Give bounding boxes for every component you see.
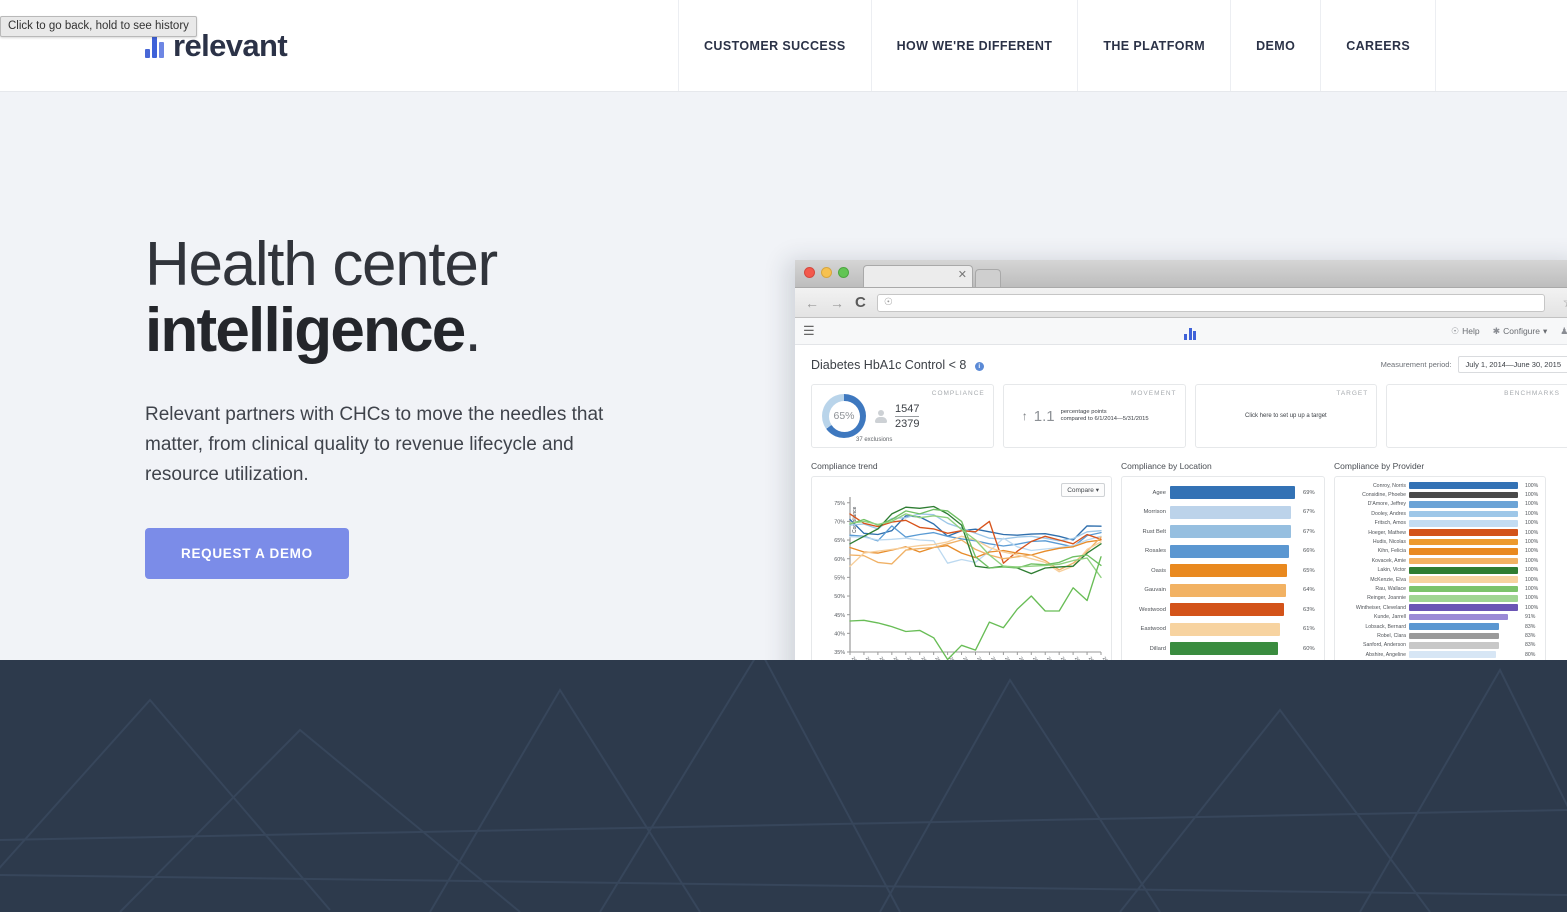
arrow-left-icon[interactable]: ← [805, 295, 819, 311]
nav-item-demo[interactable]: DEMO [1230, 0, 1320, 91]
bar-value-label: 100% [1522, 530, 1541, 536]
compliance-fraction: 1547 2379 [895, 403, 919, 430]
compare-dropdown-button[interactable]: Compare ▾ [1061, 483, 1105, 497]
panel-title: Compliance trend [811, 461, 1112, 471]
bar-row[interactable]: D'Amore, Jeffrey100% [1339, 500, 1541, 509]
hero-subtitle: Relevant partners with CHCs to move the … [145, 400, 625, 490]
bar-row[interactable]: Robel, Clara83% [1339, 631, 1541, 640]
bar[interactable] [1170, 525, 1291, 538]
bar[interactable] [1409, 642, 1499, 649]
bar-value-label: 100% [1522, 520, 1541, 526]
bar-value-label: 100% [1522, 605, 1541, 611]
bar-value-label: 65% [1300, 568, 1320, 574]
bar[interactable] [1409, 529, 1518, 536]
bar-value-label: 83% [1522, 624, 1541, 630]
bar-track [1409, 492, 1522, 499]
close-icon[interactable]: ✕ [958, 268, 967, 281]
bar-value-label: 61% [1300, 626, 1320, 632]
movement-value: 1.1 [1034, 408, 1055, 425]
bar[interactable] [1409, 511, 1518, 518]
panel-compliance-trend: Compliance trend Compare ▾ 35%40%45%50%5… [811, 461, 1112, 660]
bar-label: Kunde, Jarrell [1339, 614, 1409, 620]
bar[interactable] [1170, 603, 1284, 616]
bar-chart-logo-icon [145, 34, 164, 58]
provider-bar-chart: Conroy, Norris100%Considine, Phoebe100%D… [1334, 476, 1546, 660]
bar-row[interactable]: Conroy, Norris100% [1339, 481, 1541, 490]
hero-heading-period: . [465, 296, 481, 365]
bar-value-label: 100% [1522, 548, 1541, 554]
page-title: Health center intelligence. [145, 232, 705, 364]
bar-value-label: 67% [1300, 509, 1320, 515]
bar-track [1170, 486, 1300, 499]
bar[interactable] [1409, 576, 1518, 583]
star-icon[interactable]: ☆ [1562, 294, 1567, 311]
bar-value-label: 100% [1522, 511, 1541, 517]
minimize-button[interactable] [821, 267, 832, 278]
location-bar-chart: Agee69%Morrison67%Rust Belt67%Rosales66%… [1121, 476, 1325, 660]
bar-track [1170, 584, 1300, 597]
bar[interactable] [1409, 501, 1518, 508]
bar-track [1409, 482, 1522, 489]
bar-row[interactable]: Rau, Wallace100% [1339, 584, 1541, 593]
bar-label: Robel, Clara [1339, 633, 1409, 639]
panel-compliance-by-location: Compliance by Location Agee69%Morrison67… [1121, 461, 1325, 660]
bar[interactable] [1170, 584, 1286, 597]
kpi-label: COMPLIANCE [932, 390, 985, 397]
kpi-card-compliance[interactable]: COMPLIANCE 65% 1547 2379 [811, 384, 994, 448]
bar-track [1409, 651, 1522, 658]
bar-track [1409, 567, 1522, 574]
bar-label: Hudis, Nicolas [1339, 539, 1409, 545]
bar-label: Lobsack, Bernard [1339, 624, 1409, 630]
svg-text:Compliance: Compliance [852, 506, 858, 533]
bar-row[interactable]: Morrison67% [1126, 503, 1320, 523]
bar[interactable] [1409, 492, 1518, 499]
bar-value-label: 91% [1522, 614, 1541, 620]
bar-label: Agee [1126, 490, 1170, 496]
nav-item-customer-success[interactable]: CUSTOMER SUCCESS [678, 0, 871, 91]
panel-compliance-by-provider: Compliance by Provider Conroy, Norris100… [1334, 461, 1546, 660]
bar-value-label: 100% [1522, 483, 1541, 489]
bar-track [1409, 520, 1522, 527]
panel-title: Compliance by Provider [1334, 461, 1546, 471]
measurement-period-label: Measurement period: [1381, 360, 1452, 369]
bar-value-label: 100% [1522, 577, 1541, 583]
bar-row[interactable]: Kovacek, Amie100% [1339, 556, 1541, 565]
bar[interactable] [1170, 506, 1291, 519]
product-screenshot-browser-mock: ✕ ← → C ☉ ☆ ☰ ☉ Help ✱ [795, 260, 1567, 660]
bar-row[interactable]: Reinger, Joannie100% [1339, 594, 1541, 603]
svg-text:50%: 50% [834, 594, 845, 600]
bar[interactable] [1170, 564, 1287, 577]
bar-label: McKenzie, Elva [1339, 577, 1409, 583]
compare-label: Compare [1067, 487, 1094, 494]
bar-label: Lakin, Victor [1339, 567, 1409, 573]
bar-label: Hoeger, Mathew [1339, 530, 1409, 536]
bar-row[interactable]: Gauvain64% [1126, 581, 1320, 601]
bar-value-label: 67% [1300, 529, 1320, 535]
bar-track [1409, 501, 1522, 508]
bar-label: Sanford, Anderson [1339, 642, 1409, 648]
user-icon: ♟ [1560, 326, 1567, 337]
panel-title: Compliance by Location [1121, 461, 1325, 471]
bar-label: Rau, Wallace [1339, 586, 1409, 592]
account-menu-item[interactable]: ♟ A [1560, 326, 1567, 337]
bar[interactable] [1409, 651, 1496, 658]
bar-row[interactable]: Eastwood61% [1126, 620, 1320, 640]
bar-label: Oasis [1126, 568, 1170, 574]
bar-track [1170, 623, 1300, 636]
reload-icon[interactable]: C [855, 294, 866, 311]
bar-track [1409, 595, 1522, 602]
svg-text:60%: 60% [834, 557, 845, 563]
chevron-down-icon: ▾ [1543, 326, 1547, 337]
chevron-down-icon: ▾ [1096, 487, 1099, 494]
bar-track [1409, 623, 1522, 630]
bar-track [1170, 525, 1300, 538]
bar[interactable] [1409, 520, 1518, 527]
bar-row[interactable]: Lakin, Victor100% [1339, 566, 1541, 575]
bar-row[interactable]: Dillard60% [1126, 639, 1320, 659]
movement-caption: percentage points compared to 6/1/2014—5… [1061, 409, 1149, 424]
bar[interactable] [1170, 486, 1295, 499]
kpi-label: MOVEMENT [1131, 390, 1177, 397]
bar-row[interactable]: Hudis, Nicolas100% [1339, 537, 1541, 546]
kpi-card-movement[interactable]: MOVEMENT ↑ 1.1 percentage points compare… [1003, 384, 1186, 448]
svg-text:75%: 75% [834, 501, 845, 507]
hero-heading-line-2: intelligence [145, 296, 465, 365]
bar-track [1170, 545, 1300, 558]
bar-row[interactable]: Wintheiser, Cleveland100% [1339, 603, 1541, 612]
numerator: 1547 [895, 403, 919, 415]
bar-value-label: 100% [1522, 567, 1541, 573]
bar-track [1170, 642, 1300, 655]
bar[interactable] [1409, 586, 1518, 593]
bar[interactable] [1409, 604, 1518, 611]
bar-row[interactable]: Lobsack, Bernard83% [1339, 622, 1541, 631]
configure-label: Configure [1503, 326, 1540, 336]
background-pattern [0, 660, 1567, 912]
bar-label: Morrison [1126, 509, 1170, 515]
bar-track [1170, 603, 1300, 616]
bar-label: Westwood [1126, 607, 1170, 613]
bar-track [1409, 642, 1522, 649]
bar-value-label: 80% [1522, 652, 1541, 658]
bar-value-label: 83% [1522, 642, 1541, 648]
bar-track [1409, 633, 1522, 640]
svg-text:40%: 40% [834, 632, 845, 638]
globe-icon: ☉ [1451, 326, 1459, 337]
bar-track [1409, 576, 1522, 583]
bar-value-label: 100% [1522, 558, 1541, 564]
bar-value-label: 100% [1522, 539, 1541, 545]
hero-section: Health center intelligence. Relevant par… [0, 92, 1567, 660]
bar-row[interactable]: Dooley, Andres100% [1339, 509, 1541, 518]
bar-label: D'Amore, Jeffrey [1339, 501, 1409, 507]
configure-menu-item[interactable]: ✱ Configure ▾ [1493, 326, 1548, 337]
bar[interactable] [1409, 539, 1518, 546]
bar-value-label: 100% [1522, 492, 1541, 498]
bar-row[interactable]: McKenzie, Elva100% [1339, 575, 1541, 584]
bar-track [1409, 614, 1522, 621]
browser-toolbar: ← → C ☉ ☆ [795, 288, 1567, 318]
nav-item-careers[interactable]: CAREERS [1320, 0, 1435, 91]
svg-text:65%: 65% [834, 538, 845, 544]
kpi-label: TARGET [1336, 390, 1368, 397]
bar-value-label: 83% [1522, 633, 1541, 639]
close-button[interactable] [804, 267, 815, 278]
bar[interactable] [1409, 558, 1518, 565]
zoom-button[interactable] [838, 267, 849, 278]
hero-heading-line-1: Health center [145, 230, 497, 299]
bar-chart-logo-icon [1181, 322, 1199, 340]
exclusions-text: 37 exclusions [856, 437, 892, 443]
bar-value-label: 60% [1300, 646, 1320, 652]
bar-value-label: 100% [1522, 501, 1541, 507]
bar-row[interactable]: Rust Belt67% [1126, 522, 1320, 542]
bar-track [1409, 604, 1522, 611]
nav-spacer [1435, 0, 1567, 91]
app-bar-actions: ☉ Help ✱ Configure ▾ ♟ A [1451, 326, 1567, 337]
person-icon [874, 410, 887, 423]
movement-unit: percentage points [1061, 409, 1107, 415]
arrow-right-icon[interactable]: → [830, 295, 844, 311]
dashboard: Diabetes HbA1c Control < 8 i Measurement… [795, 345, 1567, 660]
bar-value-label: 64% [1300, 587, 1320, 593]
bar-label: Rosales [1126, 548, 1170, 554]
window-controls[interactable] [804, 267, 849, 278]
new-tab-button[interactable] [975, 269, 1001, 287]
movement-comparison: compared to 6/1/2014—5/31/2015 [1061, 416, 1149, 422]
bar-row[interactable]: Kihn, Felicia100% [1339, 547, 1541, 556]
bar[interactable] [1409, 595, 1518, 602]
bar[interactable] [1170, 623, 1280, 636]
arrow-up-icon: ↑ [1022, 409, 1028, 423]
nav-item-how-were-different[interactable]: HOW WE'RE DIFFERENT [871, 0, 1078, 91]
bar-row[interactable]: Kunde, Jarrell91% [1339, 612, 1541, 621]
kpi-card-target[interactable]: TARGET Click here to set up up a target [1195, 384, 1378, 448]
dashboard-title-wrap: Diabetes HbA1c Control < 8 i [811, 358, 984, 372]
bar-row[interactable]: Considine, Phoebe100% [1339, 490, 1541, 499]
hero-copy: Health center intelligence. Relevant par… [145, 232, 705, 579]
bar-value-label: 69% [1300, 490, 1320, 496]
bar-value-label: 63% [1300, 607, 1320, 613]
compliance-trend-line-chart: 35%40%45%50%55%60%65%70%75%Compliance201… [812, 477, 1111, 660]
bar-row[interactable]: Oasis65% [1126, 561, 1320, 581]
bar-label: Conroy, Norris [1339, 483, 1409, 489]
target-setup-link[interactable]: Click here to set up up a target [1196, 413, 1377, 419]
bar[interactable] [1170, 545, 1289, 558]
bar[interactable] [1409, 482, 1518, 489]
bar[interactable] [1409, 548, 1518, 555]
browser-back-tooltip: Click to go back, hold to see history [0, 16, 197, 37]
browser-tab[interactable]: ✕ [863, 265, 973, 287]
nav-item-the-platform[interactable]: THE PLATFORM [1077, 0, 1230, 91]
browser-tab-strip: ✕ [795, 260, 1567, 288]
bar-value-label: 66% [1300, 548, 1320, 554]
bar-row[interactable]: Abshire, Angeline80% [1339, 650, 1541, 659]
bar-label: Considine, Phoebe [1339, 492, 1409, 498]
bar-label: Kihn, Felicia [1339, 548, 1409, 554]
svg-text:35%: 35% [834, 650, 845, 656]
bar-track [1409, 529, 1522, 536]
svg-text:55%: 55% [834, 576, 845, 582]
bar-row[interactable]: Sanford, Anderson83% [1339, 641, 1541, 650]
bar-value-label: 100% [1522, 586, 1541, 592]
bar-row[interactable]: Hoeger, Mathew100% [1339, 528, 1541, 537]
bar[interactable] [1170, 642, 1278, 655]
measurement-period-value[interactable]: July 1, 2014—June 30, 2015 [1458, 356, 1567, 373]
bar-label: Rust Belt [1126, 529, 1170, 535]
info-icon[interactable]: i [975, 362, 984, 371]
testimonials-section: What Our Customers Are Saying [0, 660, 1567, 912]
trend-chart-box: Compare ▾ 35%40%45%50%55%60%65%70%75%Com… [811, 476, 1112, 660]
bar[interactable] [1409, 614, 1508, 621]
bar-row[interactable]: Agee69% [1126, 483, 1320, 503]
kpi-card-row: COMPLIANCE 65% 1547 2379 [811, 384, 1567, 448]
kpi-label: BENCHMARKS [1504, 390, 1560, 397]
app-top-bar: ☰ ☉ Help ✱ Configure ▾ ♟ A [795, 318, 1567, 345]
main-nav: CUSTOMER SUCCESS HOW WE'RE DIFFERENT THE… [678, 0, 1567, 91]
globe-icon: ☉ [884, 297, 893, 308]
bar[interactable] [1409, 633, 1499, 640]
bar-track [1170, 506, 1300, 519]
help-label: Help [1462, 326, 1479, 336]
bar-track [1409, 539, 1522, 546]
request-a-demo-button[interactable]: REQUEST A DEMO [145, 528, 349, 579]
bar-track [1409, 586, 1522, 593]
bar-label: Kovacek, Amie [1339, 558, 1409, 564]
bar-track [1409, 548, 1522, 555]
hamburger-icon[interactable]: ☰ [803, 323, 815, 339]
address-bar[interactable]: ☉ [877, 294, 1546, 312]
bar-label: Fritsch, Amos [1339, 520, 1409, 526]
bar-track [1170, 564, 1300, 577]
bar-row[interactable]: Westwood63% [1126, 600, 1320, 620]
bar-value-label: 100% [1522, 595, 1541, 601]
bar-label: Reinger, Joannie [1339, 595, 1409, 601]
bar[interactable] [1409, 567, 1518, 574]
measurement-period: Measurement period: July 1, 2014—June 30… [1381, 356, 1567, 373]
bar-label: Gauvain [1126, 587, 1170, 593]
bar-row[interactable]: Fritsch, Amos100% [1339, 519, 1541, 528]
bar-label: Eastwood [1126, 626, 1170, 632]
brand-logo-link[interactable]: relevant [0, 0, 678, 91]
wrench-icon: ✱ [1493, 326, 1501, 337]
bar-row[interactable]: Rosales66% [1126, 542, 1320, 562]
site-header: relevant CUSTOMER SUCCESS HOW WE'RE DIFF… [0, 0, 1567, 92]
bar-label: Wintheiser, Cleveland [1339, 605, 1409, 611]
denominator: 2379 [895, 418, 919, 430]
bar-label: Dooley, Andres [1339, 511, 1409, 517]
help-menu-item[interactable]: ☉ Help [1451, 326, 1480, 337]
dashboard-panels: Compliance trend Compare ▾ 35%40%45%50%5… [811, 461, 1567, 660]
bar-label: Abshire, Angeline [1339, 652, 1409, 658]
compliance-percent: 65% [833, 410, 854, 422]
dashboard-header: Diabetes HbA1c Control < 8 i Measurement… [811, 356, 1567, 373]
bar-label: Dillard [1126, 646, 1170, 652]
compliance-donut-gauge: 65% [822, 394, 866, 438]
svg-text:45%: 45% [834, 613, 845, 619]
bar-track [1409, 558, 1522, 565]
bar[interactable] [1409, 623, 1499, 630]
dashboard-title: Diabetes HbA1c Control < 8 [811, 358, 966, 372]
kpi-card-benchmarks[interactable]: BENCHMARKS [1386, 384, 1567, 448]
svg-text:70%: 70% [834, 520, 845, 526]
bar-track [1409, 511, 1522, 518]
